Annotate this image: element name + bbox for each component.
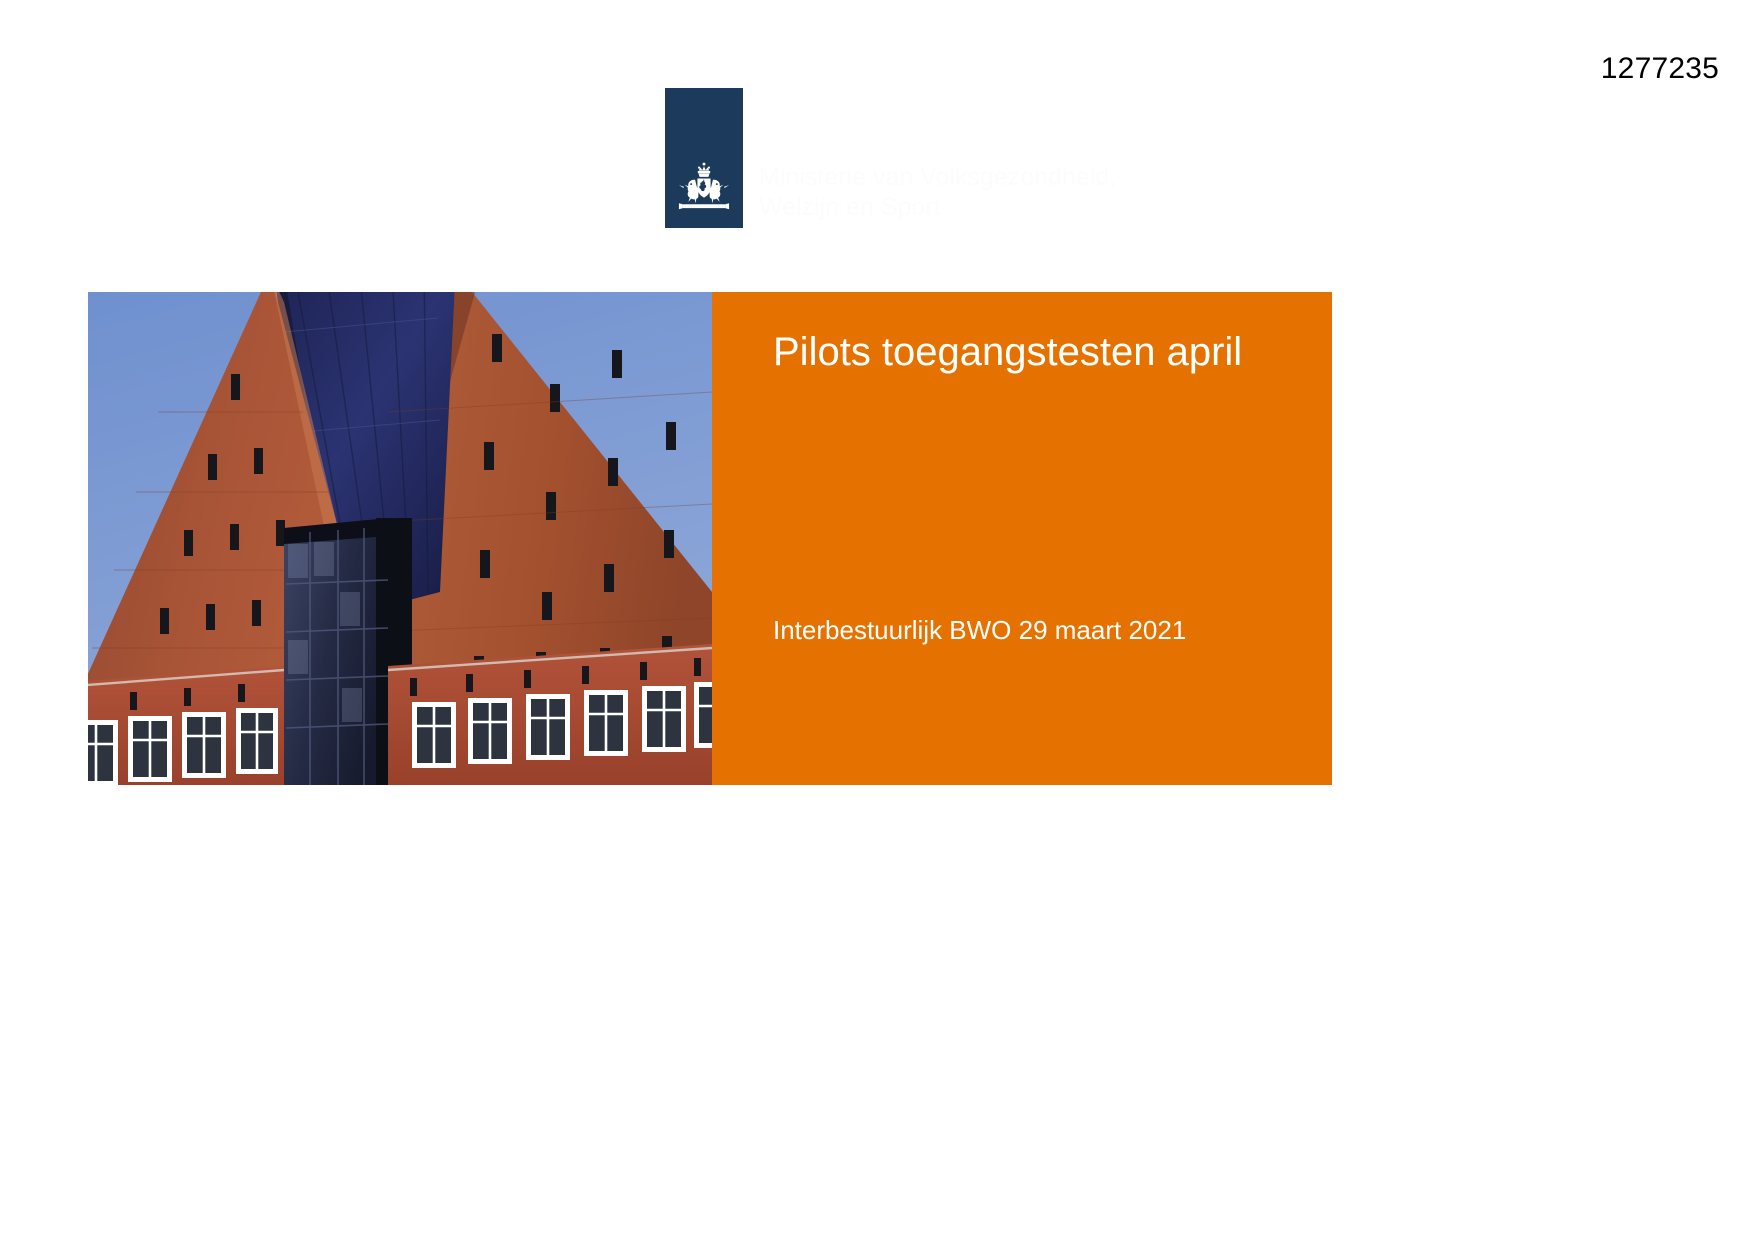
document-reference-number: 1277235 xyxy=(1601,52,1719,85)
slide-title: Pilots toegangstesten april xyxy=(773,327,1302,377)
building-photograph xyxy=(88,292,712,785)
presentation-slide: 1277235 xyxy=(0,0,1754,1241)
building-photo-illustration xyxy=(88,292,712,785)
orange-title-panel: Pilots toegangstesten april Interbestuur… xyxy=(712,292,1332,785)
title-band: Pilots toegangstesten april Interbestuur… xyxy=(88,292,1332,785)
ministry-wordmark: Ministerie van Volksgezondheid, Welzijn … xyxy=(759,163,1116,228)
netherlands-coat-of-arms-icon xyxy=(671,162,737,224)
ministry-wordmark-line-2: Welzijn en Sport xyxy=(759,193,1116,223)
ministry-logo: Ministerie van Volksgezondheid, Welzijn … xyxy=(665,88,1116,228)
slide-subtitle: Interbestuurlijk BWO 29 maart 2021 xyxy=(773,614,1302,648)
logo-navy-block xyxy=(665,88,743,228)
ministry-wordmark-line-1: Ministerie van Volksgezondheid, xyxy=(759,163,1116,193)
